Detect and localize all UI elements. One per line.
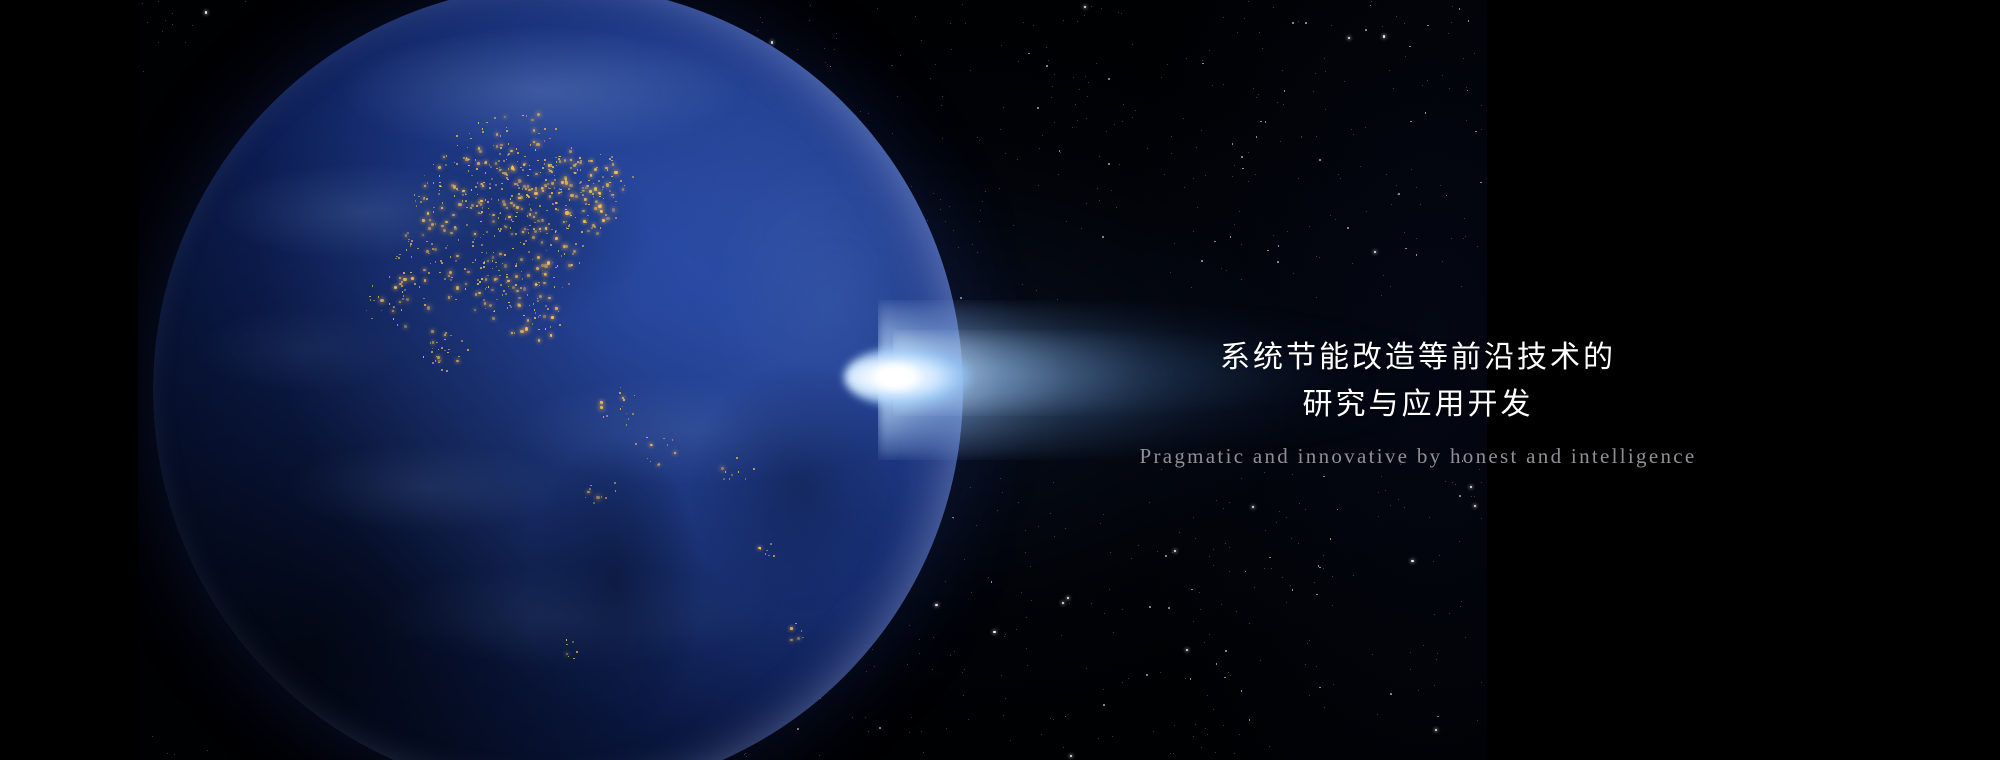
earth-sphere — [153, 0, 963, 760]
headline-line-1: 系统节能改造等前沿技术的 — [1068, 334, 1768, 381]
hero-banner: 系统节能改造等前沿技术的 研究与应用开发 Pragmatic and innov… — [0, 0, 2000, 760]
subline-tagline: Pragmatic and innovative by honest and i… — [1068, 443, 1768, 469]
earth-atmosphere-rim — [153, 0, 963, 760]
banner-copy: 系统节能改造等前沿技术的 研究与应用开发 Pragmatic and innov… — [1068, 334, 1768, 469]
earth-globe — [153, 0, 963, 760]
headline-line-2: 研究与应用开发 — [1068, 381, 1768, 428]
letterbox-bar-left — [0, 0, 138, 760]
